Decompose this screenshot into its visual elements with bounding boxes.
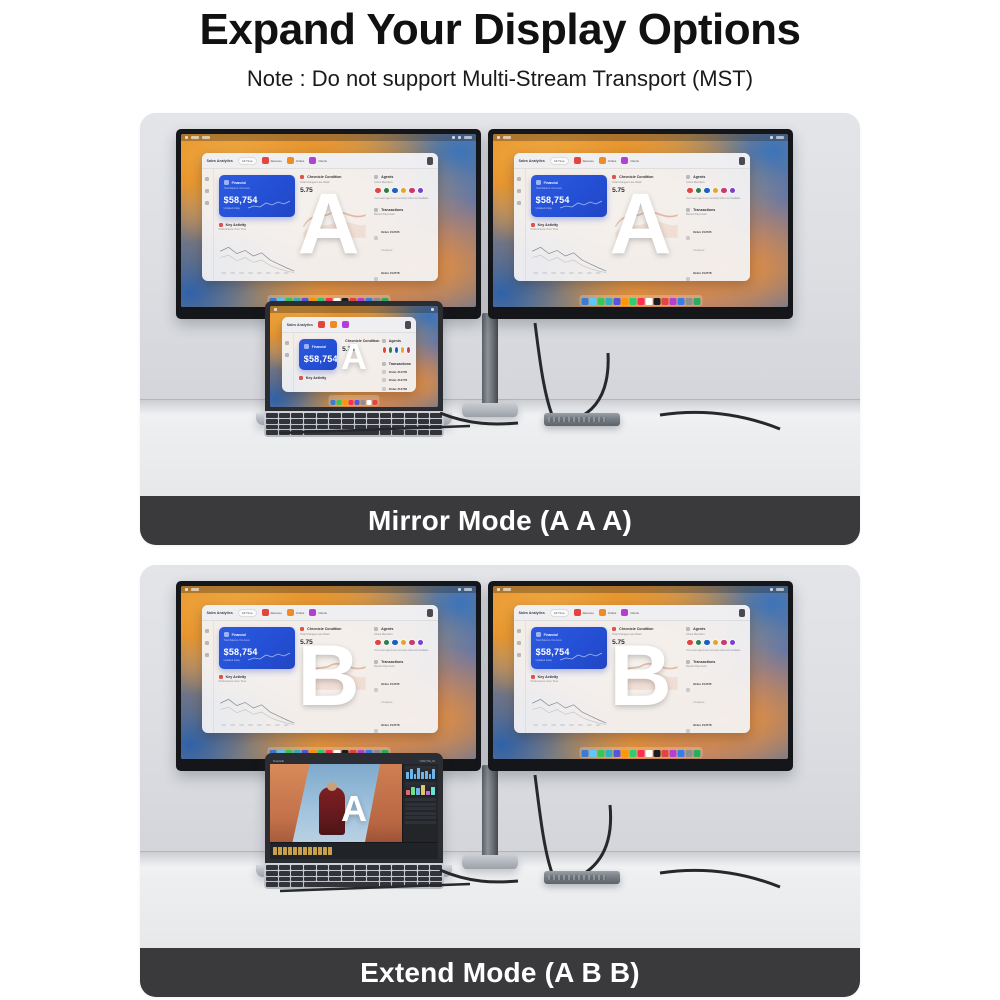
transaction-icon: [382, 370, 386, 374]
sidebar-item-reports[interactable]: [205, 641, 209, 645]
avatar[interactable]: [739, 157, 745, 165]
page-header: Expand Your Display Options Note : Do no…: [0, 0, 1000, 92]
dock-icon-photos[interactable]: [621, 750, 628, 757]
key-activity-title: Key Activity: [226, 223, 246, 227]
dock-icon-messages[interactable]: [597, 298, 604, 305]
menu-bar[interactable]: [493, 586, 788, 593]
agent-avatar[interactable]: [388, 346, 393, 354]
key: [430, 882, 442, 887]
wifi-icon[interactable]: [770, 136, 773, 139]
toolbar-app-orders[interactable]: Orders: [599, 157, 617, 164]
key: [405, 425, 417, 430]
agent-avatar[interactable]: [383, 187, 391, 195]
dashboard-window[interactable]: Sales Analytics All Time Revenue Orders: [514, 605, 750, 733]
monitor-stand-base: [462, 403, 518, 417]
dock-icon-mail[interactable]: [605, 298, 612, 305]
dock-icon-maps[interactable]: [355, 400, 360, 405]
sidebar-item-settings[interactable]: [205, 201, 209, 205]
agent-avatar[interactable]: [729, 187, 737, 195]
toolbar-app-clients[interactable]: Clients: [309, 157, 327, 164]
transaction-name: Order #14735: [693, 682, 711, 686]
financial-card[interactable]: Financial Total Balance Overview $58,754…: [219, 627, 296, 669]
key: [291, 871, 303, 876]
sidebar-item-home[interactable]: [285, 341, 289, 345]
dock-icon-facetime[interactable]: [629, 298, 636, 305]
financial-card[interactable]: Financial $58,754: [299, 339, 337, 370]
dock-icon-appstore[interactable]: [677, 750, 684, 757]
dock-icon-numbers[interactable]: [693, 298, 700, 305]
monitor-right-screen: Sales Analytics All Time Revenue Orders: [493, 134, 788, 307]
agents-icon: [382, 339, 386, 343]
key: [392, 882, 404, 887]
video-timeline[interactable]: [270, 842, 438, 859]
toolbar-app-clients[interactable]: Clients: [621, 157, 639, 164]
chronicle-condition-section: Chronicle Condition 5.75: [342, 339, 377, 353]
transaction-icon: [374, 277, 378, 281]
transactions-list: Order #14735 Completed Order #14778: [686, 220, 745, 281]
list-item[interactable]: Order #14778: [382, 378, 411, 382]
key: [291, 882, 303, 887]
video-editor-title: Final Edit: [273, 760, 284, 763]
agents-avatar-row[interactable]: [382, 346, 411, 354]
financial-card-label: Financial: [544, 181, 558, 185]
key-activity-section: Key Activity Performance Over Time: [531, 223, 608, 232]
dashboard-column-left: Financial Total Balance Overview $58,754…: [531, 627, 608, 727]
toolbar-app-orders[interactable]: Orders: [599, 609, 617, 616]
toolbar-right-group: [739, 157, 745, 165]
list-item[interactable]: Order #14782: [382, 387, 411, 391]
macos-dock[interactable]: [579, 747, 702, 758]
key: [342, 865, 354, 870]
laptop-screen: Sales Analytics: [270, 306, 438, 407]
apple-menu-icon[interactable]: [497, 136, 500, 139]
monitor-stand-base: [462, 855, 518, 869]
key: [430, 877, 442, 882]
menu-bar[interactable]: [181, 134, 476, 141]
agent-avatar[interactable]: [406, 346, 411, 354]
chronicle-condition-section: Chronicle Condition Total Changes Last W…: [300, 175, 369, 194]
video-preview-canvas[interactable]: [270, 764, 402, 842]
agent-avatar[interactable]: [400, 346, 405, 354]
toolbar-app-clients[interactable]: Clients: [309, 609, 327, 616]
list-item[interactable]: Order #14778 Pending: [686, 713, 745, 733]
wifi-icon[interactable]: [458, 588, 461, 591]
key: [279, 882, 291, 887]
canyon-left: [270, 764, 310, 842]
dock-icon-photos[interactable]: [621, 298, 628, 305]
sidebar-item-settings[interactable]: [517, 653, 521, 657]
clock-display[interactable]: [464, 136, 472, 139]
chronicle-condition-title: Chronicle Condition: [307, 175, 341, 179]
caption-text: Mirror Mode (A A A): [368, 505, 632, 537]
agent-avatar[interactable]: [383, 639, 391, 647]
agent-avatar[interactable]: [686, 187, 694, 195]
dashboard-sidebar[interactable]: [202, 621, 214, 733]
activity-line-chart: [531, 689, 608, 727]
laptop-keyboard[interactable]: [264, 411, 444, 437]
dashboard-filter[interactable]: All Time: [238, 157, 257, 165]
avatar[interactable]: [405, 321, 411, 329]
sidebar-item-home[interactable]: [517, 177, 521, 181]
condition-area-chart: [300, 200, 369, 276]
toolbar-app-clients[interactable]: [342, 321, 349, 328]
toolbar-right-group: [427, 157, 433, 165]
dock-icon-terminal[interactable]: [653, 298, 660, 305]
transactions-icon: [382, 362, 386, 366]
dashboard-column-middle: Chronicle Condition Total Changes Last W…: [300, 175, 369, 275]
dock-icon-podcasts[interactable]: [669, 298, 676, 305]
canyon-right: [365, 764, 402, 842]
page-note: Note : Do not support Multi-Stream Trans…: [0, 66, 1000, 92]
agent-avatar[interactable]: [391, 639, 399, 647]
agent-avatar[interactable]: [374, 639, 382, 647]
key: [266, 877, 278, 882]
key-activity-section: Key Activity Performance Over Time: [531, 675, 608, 684]
key: [317, 425, 329, 430]
dock-icon-settings[interactable]: [685, 298, 692, 305]
financial-card[interactable]: Financial Total Balance Overview $58,754…: [219, 175, 296, 217]
dock-icon-mail[interactable]: [605, 750, 612, 757]
dock-icon-settings[interactable]: [685, 750, 692, 757]
list-item[interactable]: Order #14735 Completed: [374, 672, 433, 708]
dashboard-sidebar[interactable]: [514, 621, 526, 733]
agent-avatar[interactable]: [695, 639, 703, 647]
key: [430, 430, 442, 435]
chronicle-condition-section: Chronicle Condition Total Changes Last W…: [612, 627, 681, 646]
sidebar-item-home[interactable]: [205, 629, 209, 633]
usb-c-hub-extend[interactable]: [544, 871, 620, 884]
vectorscope: [405, 782, 436, 796]
agent-avatar[interactable]: [712, 639, 720, 647]
transactions-subtitle: Recent Payments: [686, 213, 745, 216]
clock-display[interactable]: [776, 136, 784, 139]
agents-section: Agents: [382, 339, 411, 354]
dock-icon-podcasts[interactable]: [669, 750, 676, 757]
apple-menu-icon[interactable]: [185, 588, 188, 591]
agent-avatar[interactable]: [686, 639, 694, 647]
wallet-icon: [536, 632, 541, 637]
clients-app-icon: [621, 157, 628, 164]
keyboard-row: [266, 877, 442, 882]
menu-bar-item[interactable]: [202, 136, 210, 139]
condition-chart: [612, 200, 681, 276]
menu-bar-right: [770, 136, 784, 139]
dashboard-window[interactable]: Sales Analytics All Time Revenue Orders: [202, 153, 438, 281]
video-editor-app[interactable]: Final Edit CANYON_01: [270, 758, 438, 859]
sidebar-item-reports[interactable]: [285, 353, 289, 357]
avatar[interactable]: [427, 157, 433, 165]
video-scopes-panel[interactable]: [402, 764, 438, 842]
panel-mirror-mode: Sales Analytics All Time Revenue Orders: [140, 113, 860, 545]
transaction-name: Order #14778: [381, 723, 399, 727]
apple-menu-icon[interactable]: [274, 308, 277, 311]
key: [418, 871, 430, 876]
dashboard-title: Sales Analytics: [287, 323, 313, 327]
effects-list[interactable]: [405, 798, 436, 840]
orders-app-icon: [330, 321, 337, 328]
sidebar-item-home[interactable]: [205, 177, 209, 181]
sidebar-item-settings[interactable]: [517, 201, 521, 205]
agent-avatar[interactable]: [720, 187, 728, 195]
dashboard-sidebar[interactable]: [514, 169, 526, 281]
list-item[interactable]: Order #14735 Completed: [374, 220, 433, 256]
dashboard-body: Financial Total Balance Overview $58,754…: [202, 169, 438, 281]
spacebar-key: [304, 882, 379, 887]
sidebar-item-settings[interactable]: [205, 653, 209, 657]
monitor-right-screen: Sales Analytics All Time Revenue Orders: [493, 586, 788, 759]
dashboard-column-middle: Chronicle Condition 5.75: [342, 339, 377, 386]
menu-bar-item[interactable]: [191, 588, 199, 591]
menu-bar[interactable]: [493, 134, 788, 141]
transaction-icon: [686, 277, 690, 281]
wifi-icon[interactable]: [770, 588, 773, 591]
avatar[interactable]: [427, 609, 433, 617]
laptop-lid: Sales Analytics: [265, 301, 443, 413]
dock-icon-notes[interactable]: [645, 750, 652, 757]
transaction-meta: Completed: [381, 250, 392, 252]
transactions-icon: [374, 208, 378, 212]
key: [418, 430, 430, 435]
list-item[interactable]: Order #14778 Pending: [374, 713, 433, 733]
dock-icon-launchpad[interactable]: [589, 298, 596, 305]
financial-card[interactable]: Financial Total Balance Overview $58,754…: [531, 175, 608, 217]
dock-icon-music[interactable]: [349, 400, 354, 405]
toolbar-app-orders[interactable]: Orders: [287, 609, 305, 616]
clients-app-icon: [621, 609, 628, 616]
toolbar-app-revenue[interactable]: Revenue: [574, 157, 594, 164]
transaction-icon: [374, 688, 378, 692]
dashboard-sidebar[interactable]: [202, 169, 214, 281]
keyboard-row: [266, 425, 442, 430]
agents-title: Agents: [693, 627, 705, 631]
key: [266, 425, 278, 430]
agent-avatar[interactable]: [391, 187, 399, 195]
wifi-icon[interactable]: [452, 136, 455, 139]
agents-avatar-row[interactable]: [686, 639, 745, 647]
key: [304, 865, 316, 870]
timeline-clip: [308, 847, 312, 855]
transactions-icon: [686, 660, 690, 664]
dashboard-sidebar[interactable]: [282, 333, 294, 392]
toolbar-app-revenue[interactable]: [318, 321, 325, 328]
dock-icon-messages[interactable]: [337, 400, 342, 405]
dashboard-body: Financial $58,754 Key Activity: [282, 333, 416, 392]
toolbar-app-orders[interactable]: Orders: [287, 157, 305, 164]
key: [317, 871, 329, 876]
key: [367, 419, 379, 424]
menu-bar-item[interactable]: [503, 136, 511, 139]
wallet-icon: [536, 180, 541, 185]
agent-avatar[interactable]: [695, 187, 703, 195]
sidebar-item-home[interactable]: [517, 629, 521, 633]
financial-card-subtitle: Total Balance Overview: [536, 639, 603, 642]
dashboard-column-right: Agents Active Members: [374, 175, 433, 275]
monitor-stand-neck: [482, 313, 498, 411]
dashboard-column-middle: Chronicle Condition Total Changes Last W…: [300, 627, 369, 727]
sparkline-chart: [248, 651, 290, 663]
menu-bar[interactable]: [181, 586, 476, 593]
transaction-name: Order #14778: [381, 271, 399, 275]
dock-icon-notes[interactable]: [367, 400, 372, 405]
menu-bar[interactable]: [270, 306, 438, 313]
toolbar-app-revenue[interactable]: Revenue: [262, 609, 282, 616]
agent-avatar[interactable]: [712, 187, 720, 195]
agent-avatar[interactable]: [417, 639, 425, 647]
dashboard-filter[interactable]: All Time: [550, 609, 569, 617]
key: [367, 865, 379, 870]
agents-subtitle: Active Members: [686, 633, 745, 636]
apple-menu-icon[interactable]: [497, 588, 500, 591]
key: [380, 865, 392, 870]
transactions-icon: [686, 208, 690, 212]
dock-icon-terminal[interactable]: [653, 750, 660, 757]
laptop-keyboard[interactable]: [264, 863, 444, 889]
agent-avatar[interactable]: [408, 187, 416, 195]
agent-avatar[interactable]: [417, 187, 425, 195]
transaction-meta: Completed: [693, 250, 704, 252]
condition-chart: [300, 652, 369, 728]
agent-avatar[interactable]: [394, 346, 399, 354]
key: [266, 413, 278, 418]
avatar[interactable]: [739, 609, 745, 617]
key: [392, 865, 404, 870]
toolbar-app-orders[interactable]: [330, 321, 337, 328]
key: [418, 419, 430, 424]
toolbar-app-revenue[interactable]: Revenue: [574, 609, 594, 616]
agents-title: Agents: [381, 175, 393, 179]
menu-bar-item[interactable]: [191, 136, 199, 139]
menu-bar-left: [497, 136, 511, 139]
dashboard-filter[interactable]: All Time: [238, 609, 257, 617]
dashboard-window[interactable]: Sales Analytics All Time Revenue Orders: [514, 153, 750, 281]
dock-icon-photos[interactable]: [343, 400, 348, 405]
list-item[interactable]: Order #14735: [382, 370, 411, 374]
agent-avatar[interactable]: [400, 639, 408, 647]
transaction-name: Order #14782: [389, 387, 407, 391]
agent-avatar[interactable]: [408, 639, 416, 647]
apple-menu-icon[interactable]: [185, 136, 188, 139]
toolbar-app-clients[interactable]: Clients: [621, 609, 639, 616]
dock-icon-finder[interactable]: [331, 400, 336, 405]
clock-display[interactable]: [776, 588, 784, 591]
agents-title: Agents: [693, 175, 705, 179]
condition-icon: [300, 175, 304, 179]
dashboard-toolbar: Sales Analytics All Time Revenue Orders: [514, 153, 750, 169]
dock-icon-facetime[interactable]: [629, 750, 636, 757]
toolbar-app-label: Revenue: [271, 159, 282, 163]
list-item[interactable]: Order #14778 Pending: [374, 261, 433, 281]
agents-head: Agents: [374, 175, 433, 179]
agent-avatar[interactable]: [400, 187, 408, 195]
sidebar-item-reports[interactable]: [517, 641, 521, 645]
agents-section: Agents Active Members: [374, 175, 433, 200]
agent-avatar[interactable]: [703, 639, 711, 647]
dock-icon-music[interactable]: [637, 750, 644, 757]
agent-avatar[interactable]: [703, 187, 711, 195]
dock-icon-keynote[interactable]: [661, 750, 668, 757]
agents-avatar-row[interactable]: [686, 187, 745, 195]
agents-note: Your team agents are currently online an…: [374, 197, 433, 200]
dock-icon-keynote[interactable]: [661, 298, 668, 305]
dashboard-filter[interactable]: All Time: [550, 157, 569, 165]
dock-icon-maps[interactable]: [613, 298, 620, 305]
dashboard-main: Financial $58,754 Key Activity: [294, 333, 416, 392]
key: [266, 865, 278, 870]
dock-icon-appstore[interactable]: [677, 298, 684, 305]
key: [317, 419, 329, 424]
battery-icon[interactable]: [458, 136, 461, 139]
financial-card-value: $58,754: [304, 354, 332, 364]
dock-icon-maps[interactable]: [613, 750, 620, 757]
key: [355, 413, 367, 418]
agents-avatar-row[interactable]: [374, 639, 433, 647]
dock-icon-launchpad[interactable]: [589, 750, 596, 757]
agent-avatar[interactable]: [374, 187, 382, 195]
clients-app-icon: [309, 157, 316, 164]
macos-dock[interactable]: [329, 395, 380, 406]
dashboard-title: Sales Analytics: [519, 611, 545, 615]
agents-note: Your team agents are currently online an…: [686, 197, 745, 200]
dock-icon-keynote[interactable]: [373, 400, 378, 405]
dashboard-window[interactable]: Sales Analytics All Time Revenue Orders: [202, 605, 438, 733]
chronicle-condition-metric: 5.75: [612, 187, 681, 194]
agent-avatar[interactable]: [729, 639, 737, 647]
clock-display[interactable]: [464, 588, 472, 591]
dock-icon-finder[interactable]: [581, 750, 588, 757]
list-item[interactable]: Order #14778 Pending: [686, 261, 745, 281]
key: [317, 877, 329, 882]
financial-card[interactable]: Financial Total Balance Overview $58,754…: [531, 627, 608, 669]
dock-icon-messages[interactable]: [597, 750, 604, 757]
dashboard-column-middle: Chronicle Condition Total Changes Last W…: [612, 175, 681, 275]
toolbar-app-revenue[interactable]: Revenue: [262, 157, 282, 164]
list-item[interactable]: Order #14735 Completed: [686, 220, 745, 256]
activity-icon: [531, 675, 535, 679]
transactions-title: Transactions: [381, 208, 403, 212]
dock-icon-notes[interactable]: [645, 298, 652, 305]
activity-icon: [219, 675, 223, 679]
agents-avatar-row[interactable]: [374, 187, 433, 195]
usb-c-hub-mirror[interactable]: [544, 413, 620, 426]
key: [279, 877, 291, 882]
key-activity-subtitle: Performance Over Time: [219, 228, 296, 231]
agent-avatar[interactable]: [382, 346, 387, 354]
key: [342, 419, 354, 424]
dock-icon-finder[interactable]: [581, 298, 588, 305]
battery-icon[interactable]: [431, 308, 434, 311]
caption-text: Extend Mode (A B B): [360, 957, 640, 989]
key: [405, 882, 417, 887]
activity-icon: [219, 223, 223, 227]
transactions-list: Order #14735 Completed Order #14778 Pend…: [686, 672, 745, 733]
key: [355, 865, 367, 870]
key: [380, 882, 392, 887]
sidebar-item-reports[interactable]: [205, 189, 209, 193]
dashboard-window[interactable]: Sales Analytics: [282, 317, 416, 392]
dock-icon-settings[interactable]: [361, 400, 366, 405]
macos-dock[interactable]: [579, 295, 702, 306]
dock-icon-numbers[interactable]: [693, 750, 700, 757]
transaction-icon: [686, 688, 690, 692]
agent-avatar[interactable]: [720, 639, 728, 647]
menu-bar-item[interactable]: [503, 588, 511, 591]
key: [380, 425, 392, 430]
list-item[interactable]: Order #14735 Completed: [686, 672, 745, 708]
transactions-subtitle: Recent Payments: [374, 213, 433, 216]
dock-icon-music[interactable]: [637, 298, 644, 305]
sidebar-item-reports[interactable]: [517, 189, 521, 193]
agents-section: Agents Active Members: [374, 627, 433, 652]
